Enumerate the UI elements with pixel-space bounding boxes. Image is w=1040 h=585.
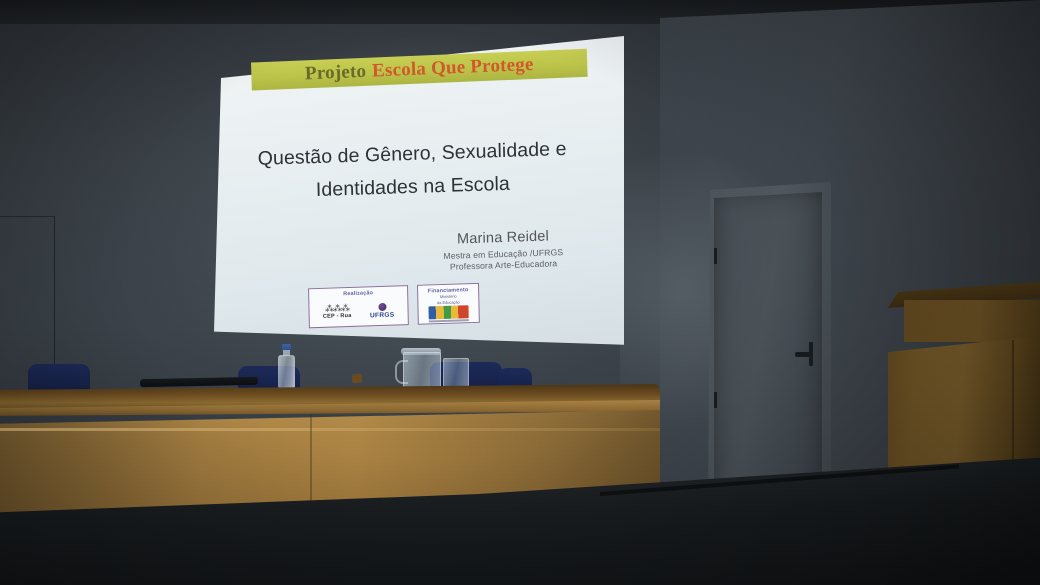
- logo-box-financiamento: Financiamento Ministério da Educação: [417, 283, 480, 325]
- cep-rua-label: CEP - Rua: [323, 312, 352, 319]
- small-tabletop-object[interactable]: [352, 374, 363, 384]
- logo-row: Realização ⁂⁂⁂ CEP - Rua UFRGS Financiam: [308, 283, 480, 329]
- cep-rua-logo: ⁂⁂⁂ CEP - Rua: [323, 304, 352, 319]
- projection-screen: Projeto Escola Que Protege Questão de Gê…: [196, 28, 624, 358]
- logo-box-realizacao: Realização ⁂⁂⁂ CEP - Rua UFRGS: [308, 285, 409, 328]
- door[interactable]: [714, 192, 822, 504]
- author-block: Marina Reidel Mestra em Educação /UFRGS …: [403, 227, 604, 274]
- slide-title-line1: Questão de Gênero, Sexualidade e: [258, 138, 567, 170]
- logo-body-realizacao: ⁂⁂⁂ CEP - Rua UFRGS: [313, 296, 404, 326]
- pitcher-lid: [401, 348, 441, 355]
- table-trim-line: [0, 428, 660, 431]
- banner-text-escola-que-protege: Escola Que Protege: [372, 54, 534, 83]
- auditorium-photo: Projeto Escola Que Protege Questão de Gê…: [0, 0, 1040, 585]
- door-hinge-mid: [714, 392, 717, 408]
- door-handle-plate: [809, 342, 813, 366]
- lectern-upper-body: [904, 300, 1040, 342]
- wall-panel-outline: [0, 216, 55, 385]
- ufrgs-crest-icon: [378, 302, 386, 310]
- water-bottle[interactable]: [278, 344, 295, 388]
- ufrgs-logo: UFRGS: [370, 302, 395, 319]
- slide-banner: Projeto Escola Que Protege: [251, 49, 588, 91]
- ufrgs-label: UFRGS: [370, 311, 395, 319]
- door-hinge-top: [714, 248, 717, 264]
- slide-title-line2: Identidades na Escola: [218, 165, 609, 211]
- gov-brasil-logo-icon: [428, 305, 468, 319]
- slide-content: Projeto Escola Que Protege Questão de Gê…: [193, 21, 628, 365]
- slide-title: Questão de Gênero, Sexualidade e Identid…: [217, 132, 608, 211]
- banner-text-projeto: Projeto: [305, 61, 367, 85]
